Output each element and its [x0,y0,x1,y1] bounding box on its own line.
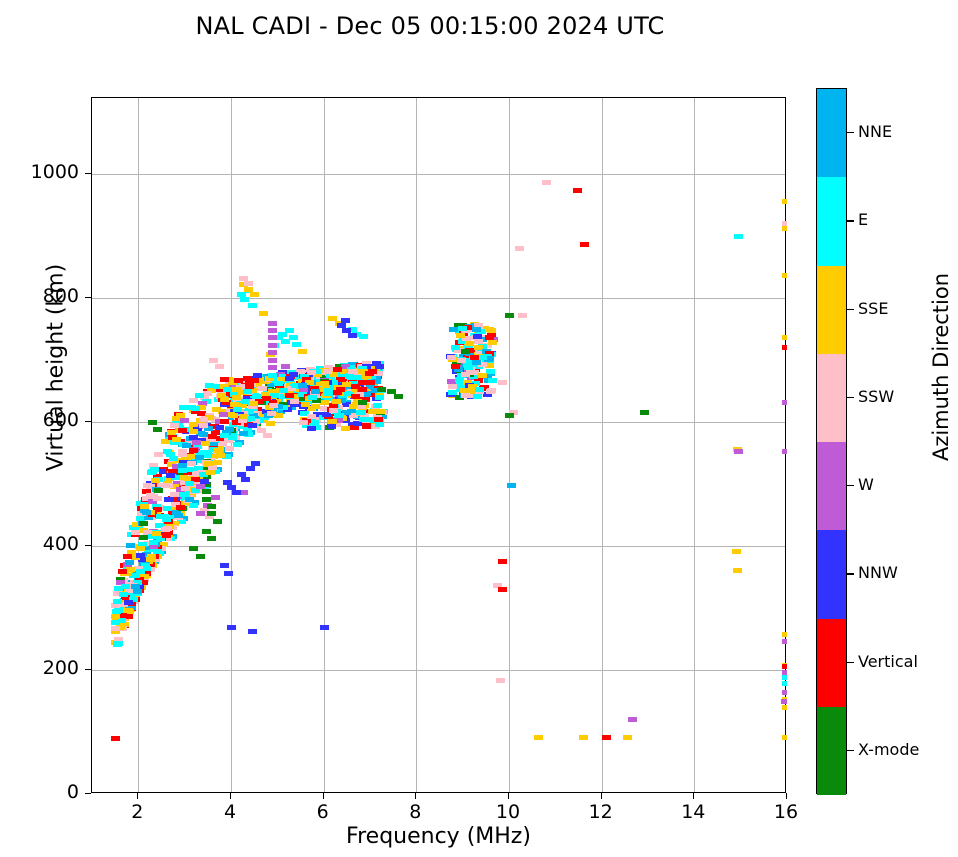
data-point-e [149,540,158,545]
data-point-e [156,514,165,519]
data-point-vertical [220,377,229,382]
data-point-sse [167,430,176,435]
data-point-nnw [320,625,329,630]
data-point-sse [250,292,259,297]
data-point-nnw [348,333,357,338]
data-point-x-mode [148,420,157,425]
data-point-x-mode [213,519,222,524]
data-point-sse [456,333,465,338]
data-point-nnw [200,479,209,484]
data-point-e [279,388,288,393]
data-point-e [240,297,249,302]
data-point-x-mode [377,387,386,392]
data-point-e [121,584,130,589]
y-axis-tick [85,793,91,794]
data-point-vertical [366,380,375,385]
data-point-e [233,442,242,447]
data-point-sse [368,409,377,414]
colorbar-label-nnw: NNW [858,563,898,582]
x-axis-tick-label: 12 [571,801,631,823]
data-point-e [270,393,279,398]
data-point-e [285,328,294,333]
data-point-ssw [348,369,357,374]
data-point-e [310,420,319,425]
data-point-nne [472,327,481,332]
data-point-nnw [220,563,229,568]
data-point-w [782,670,787,675]
data-point-sse [232,395,241,400]
data-point-vertical [285,393,294,398]
data-point-e [114,608,123,613]
data-point-sse [782,199,787,204]
data-point-sse [579,735,588,740]
data-point-ssw [209,358,218,363]
data-point-vertical [162,533,171,538]
x-axis-title: Frequency (MHz) [91,824,786,849]
y-axis-tick [85,173,91,174]
data-point-nnw [307,426,316,431]
data-point-w [211,495,220,500]
data-point-sse [189,429,198,434]
data-point-x-mode [202,529,211,534]
data-point-sse [320,381,329,386]
data-point-sse [189,422,198,427]
data-point-ssw [307,370,316,375]
data-point-e [187,405,196,410]
data-point-e [223,387,232,392]
x-axis-tick-label: 16 [756,801,816,823]
data-point-vertical [498,559,507,564]
data-point-nne [507,483,516,488]
data-point-nne [131,584,140,589]
data-point-vertical [208,434,217,439]
data-point-sse [782,335,787,340]
data-point-w [268,350,277,355]
data-point-sse [140,504,149,509]
data-point-vertical [470,355,479,360]
colorbar-tick [847,132,854,133]
data-point-vertical [580,242,589,247]
data-point-e [357,410,366,415]
data-point-ssw [542,180,551,185]
data-point-sse [249,401,258,406]
data-point-sse [485,327,494,332]
data-point-ssw [447,355,456,360]
data-point-x-mode [640,410,649,415]
data-point-vertical [178,428,187,433]
data-point-sse [782,273,787,278]
data-point-vertical [782,664,787,669]
data-point-w [299,387,308,392]
data-point-e [458,326,467,331]
data-point-vertical [451,364,460,369]
data-point-nnw [289,372,298,377]
colorbar-label-vertical: Vertical [858,652,918,671]
data-point-nnw [224,571,233,576]
data-point-e [114,641,123,646]
data-point-nnw [248,629,257,634]
data-point-nne [199,432,208,437]
data-point-sse [782,705,787,710]
data-point-x-mode [196,554,205,559]
data-point-e [268,373,277,378]
data-point-ssw [518,313,527,318]
data-point-x-mode [139,521,148,526]
scatter-data-layer [92,98,785,792]
data-point-vertical [234,378,243,383]
data-point-sse [328,419,337,424]
data-point-vertical [573,188,582,193]
data-point-nnw [166,473,175,478]
data-point-vertical [362,423,371,428]
colorbar-band-x-mode [817,707,846,796]
data-point-w [219,412,228,417]
data-point-e [375,395,384,400]
data-point-e [289,335,298,340]
data-point-nnw [251,461,260,466]
x-axis-tick [230,793,231,799]
data-point-nne [142,510,151,515]
data-point-e [292,342,301,347]
data-point-w [268,365,277,370]
data-point-nne [472,360,481,365]
data-point-ssw [269,403,278,408]
data-point-ssw [486,389,495,394]
data-point-ssw [199,423,208,428]
data-point-e [451,345,460,350]
data-point-e [734,234,743,239]
data-point-w [628,717,637,722]
data-point-vertical [498,587,507,592]
data-point-e [228,435,237,440]
data-point-sse [151,478,160,483]
data-point-ssw [461,372,470,377]
data-point-nnw [285,376,294,381]
data-point-sse [152,531,161,536]
colorbar-band-sse [817,266,846,355]
data-point-ssw [111,626,120,631]
x-axis-tick [137,793,138,799]
data-point-sse [259,311,268,316]
y-axis-tick [85,545,91,546]
data-point-w [782,690,787,695]
data-point-nnw [232,490,241,495]
data-point-nnw [372,361,381,366]
data-point-e [782,681,787,686]
x-axis-tick-label: 4 [200,801,260,823]
data-point-nnw [322,412,331,417]
data-point-sse [212,407,221,412]
data-point-w [782,449,787,454]
data-point-ssw [299,420,308,425]
data-point-x-mode [154,488,163,493]
data-point-vertical [189,448,198,453]
data-point-sse [266,421,275,426]
x-axis-tick [508,793,509,799]
colorbar-label-w: W [858,475,874,494]
colorbar [816,88,847,794]
data-point-ssw [215,364,224,369]
data-point-nnw [327,424,336,429]
data-point-sse [332,399,341,404]
data-point-e [243,389,252,394]
data-point-w [268,335,277,340]
y-axis-tick-label: 1000 [9,161,79,183]
colorbar-label-x-mode: X-mode [858,740,919,759]
y-axis-tick [85,669,91,670]
data-point-e [252,394,261,399]
data-point-sse [534,735,543,740]
data-point-nnw [215,425,224,430]
data-point-ssw [178,449,187,454]
data-point-ssw [267,411,276,416]
data-point-ssw [189,398,198,403]
colorbar-tick [847,750,854,751]
data-point-sse [206,470,215,475]
data-point-sse [478,373,487,378]
data-point-vertical [220,419,229,424]
x-axis-tick-label: 14 [663,801,723,823]
data-point-nnw [189,435,198,440]
data-point-nnw [227,625,236,630]
colorbar-tick [847,573,854,574]
data-point-x-mode [358,400,367,405]
colorbar-tick [847,397,854,398]
data-point-sse [733,568,742,573]
data-point-nne [126,543,135,548]
data-point-e [248,303,257,308]
data-point-sse [136,546,145,551]
data-point-nne [133,589,142,594]
data-point-e [359,334,368,339]
y-axis-tick [85,421,91,422]
data-point-nne [185,497,194,502]
data-point-sse [465,341,474,346]
data-point-w [782,639,787,644]
data-point-w [268,358,277,363]
data-point-sse [172,437,181,442]
data-point-e [113,599,122,604]
data-point-ssw [515,246,524,251]
colorbar-label-ssw: SSW [858,387,894,406]
data-point-ssw [496,678,505,683]
data-point-x-mode [189,546,198,551]
data-point-e [448,390,457,395]
data-point-sse [213,460,222,465]
data-point-e [131,573,140,578]
colorbar-label-e: E [858,210,868,229]
data-point-sse [214,448,223,453]
colorbar-band-nnw [817,530,846,619]
data-point-vertical [358,387,367,392]
data-point-w [268,328,277,333]
data-point-vertical [351,394,360,399]
data-point-vertical [123,554,132,559]
data-point-ssw [203,391,212,396]
chart-title: NAL CADI - Dec 05 00:15:00 2024 UTC [0,12,860,40]
data-point-nne [178,463,187,468]
x-axis-tick [415,793,416,799]
data-point-x-mode [207,504,216,509]
colorbar-label-sse: SSE [858,299,888,318]
data-point-nnw [124,600,133,605]
data-point-e [475,387,484,392]
data-point-e [473,394,482,399]
data-point-ssw [307,414,316,419]
data-point-nne [125,560,134,565]
data-point-nne [174,513,183,518]
data-point-ssw [357,404,366,409]
data-point-e [220,433,229,438]
data-point-w [268,321,277,326]
data-point-vertical [118,569,127,574]
data-point-sse [229,413,238,418]
data-point-w [782,400,787,405]
data-point-e [205,383,214,388]
data-point-vertical [245,381,254,386]
data-point-ssw [153,496,162,501]
data-point-sse [782,632,787,637]
data-point-e [488,378,497,383]
data-point-ssw [457,358,466,363]
data-point-sse [298,349,307,354]
x-axis-tick [323,793,324,799]
data-point-ssw [474,339,483,344]
data-point-sse [204,461,213,466]
data-point-sse [782,735,787,740]
y-axis-tick-label: 200 [9,657,79,679]
data-point-sse [488,340,497,345]
data-point-sse [623,735,632,740]
data-point-sse [732,549,741,554]
data-point-nne [298,383,307,388]
data-point-sse [124,608,133,613]
data-point-sse [179,475,188,480]
x-axis-tick-label: 6 [293,801,353,823]
data-point-x-mode [202,497,211,502]
data-point-e [119,592,128,597]
y-axis-tick [85,297,91,298]
data-point-sse [146,557,155,562]
data-point-e [478,355,487,360]
data-point-ssw [170,492,179,497]
data-point-x-mode [202,489,211,494]
data-point-ssw [782,221,787,226]
data-point-x-mode [153,427,162,432]
data-point-w [268,343,277,348]
data-point-e [150,467,159,472]
data-point-vertical [602,735,611,740]
data-point-ssw [461,393,470,398]
colorbar-tick [847,309,854,310]
data-point-e [375,422,384,427]
data-point-vertical [782,345,787,350]
y-axis-title: Virtual height (km) [44,218,69,518]
data-point-e [163,506,172,511]
data-point-x-mode [207,536,216,541]
colorbar-band-nne [817,89,846,178]
x-axis-tick [601,793,602,799]
colorbar-band-ssw [817,354,846,443]
colorbar-label-nne: NNE [858,122,892,141]
colorbar-tick [847,485,854,486]
data-point-e [195,393,204,398]
data-point-nnw [248,423,257,428]
data-point-vertical [374,417,383,422]
data-point-e [153,549,162,554]
colorbar-tick [847,662,854,663]
data-point-e [233,407,242,412]
colorbar-band-w [817,442,846,531]
data-point-vertical [262,396,271,401]
data-point-ssw [263,433,272,438]
y-axis-tick-label: 400 [9,533,79,555]
data-point-ssw [154,452,163,457]
data-point-ssw [290,399,299,404]
data-point-e [782,675,787,680]
data-point-nnw [241,477,250,482]
data-point-nne [225,427,234,432]
data-point-ssw [329,408,338,413]
data-point-w [196,484,205,489]
data-point-ssw [448,384,457,389]
data-point-vertical [333,367,342,372]
data-point-e [308,395,317,400]
data-point-nnw [341,318,350,323]
data-point-w [781,699,787,704]
data-point-sse [239,414,248,419]
x-axis-tick-label: 10 [478,801,538,823]
data-point-nnw [473,334,482,339]
data-point-ssw [181,486,190,491]
data-point-vertical [365,371,374,376]
data-point-vertical [336,387,345,392]
data-point-x-mode [505,413,514,418]
data-point-x-mode [505,313,514,318]
data-point-nne [449,327,458,332]
data-point-ssw [199,417,208,422]
x-axis-tick [786,793,787,799]
data-point-e [373,403,382,408]
data-point-ssw [498,380,507,385]
data-point-sse [342,382,351,387]
colorbar-band-e [817,177,846,266]
data-point-sse [220,397,229,402]
data-point-nnw [136,553,145,558]
data-point-nne [239,431,248,436]
data-point-x-mode [394,394,403,399]
data-point-nne [311,389,320,394]
data-point-x-mode [207,511,216,516]
data-point-e [166,452,175,457]
data-point-ssw [244,281,253,286]
x-axis-tick [693,793,694,799]
colorbar-band-vertical [817,619,846,708]
data-point-x-mode [461,349,470,354]
data-point-vertical [111,736,120,741]
colorbar-title: Azimuth Direction [929,217,953,517]
data-point-ssw [258,386,267,391]
data-point-sse [341,426,350,431]
data-point-ssw [323,369,332,374]
data-point-ssw [208,465,217,470]
data-point-w [192,440,201,445]
data-point-w [281,364,290,369]
data-point-ssw [187,461,196,466]
data-point-ssw [161,527,170,532]
data-point-x-mode [139,535,148,540]
data-point-sse [301,402,310,407]
